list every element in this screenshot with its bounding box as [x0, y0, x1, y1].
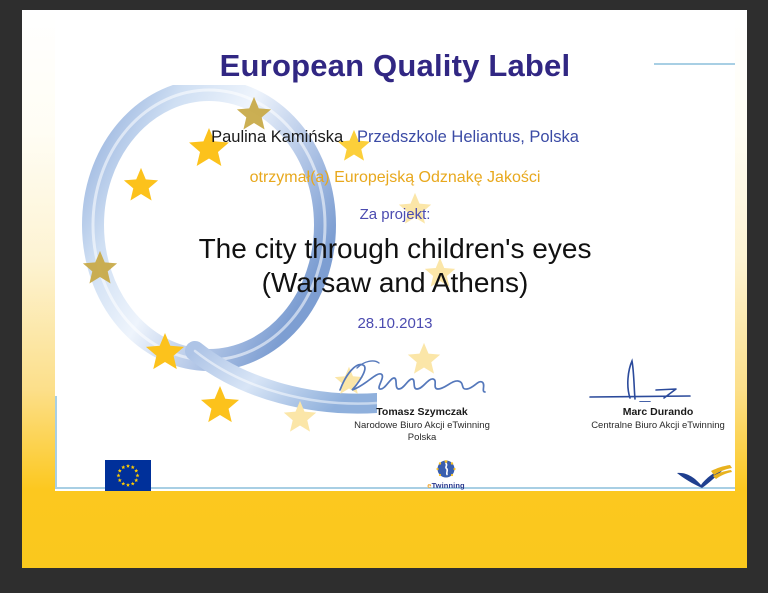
award-date: 28.10.2013: [55, 315, 735, 332]
certificate-paper: European Quality Label Paulina Kamińska …: [55, 10, 735, 491]
project-title-line-2: (Warsaw and Athens): [55, 266, 735, 300]
project-title-line-1: The city through children's eyes: [55, 232, 735, 266]
recipient-line: Paulina Kamińska Przedszkole Heliantus, …: [55, 128, 735, 147]
project-title: The city through children's eyes (Warsaw…: [55, 232, 735, 300]
certificate: European Quality Label Paulina Kamińska …: [22, 10, 747, 568]
signature-block-left: Tomasz Szymczak Narodowe Biuro Akcji eTw…: [307, 362, 537, 444]
etwinning-wordmark: eTwinning: [391, 481, 501, 490]
recipient-name: Paulina Kamińska: [211, 128, 343, 146]
signature-org-left-line1: Narodowe Biuro Akcji eTwinning: [307, 420, 537, 432]
etwinning-logo: eTwinning: [391, 458, 501, 490]
signature-org-right-line1: Centralne Biuro Akcji eTwinning: [543, 420, 735, 432]
signature-mark-tomasz-szymczak: [307, 362, 537, 406]
decorative-star: [145, 332, 185, 377]
for-project-label: Za projekt:: [55, 206, 735, 223]
footer-rule-vertical: [55, 396, 57, 489]
signature-block-right: Marc Durando Centralne Biuro Akcji eTwin…: [543, 362, 735, 432]
european-union-flag-logo: [105, 460, 151, 491]
etwinning-wordmark-text: Twinning: [432, 481, 465, 490]
signature-name-right: Marc Durando: [543, 406, 735, 420]
decorative-star: [200, 385, 240, 430]
signature-name-left: Tomasz Szymczak: [307, 406, 537, 420]
european-schoolnet-logo: [675, 462, 733, 491]
signature-mark-marc-durando: [543, 362, 735, 406]
page-title: European Quality Label: [55, 48, 735, 84]
award-statement: otrzymał(a) Europejską Odznakę Jakości: [55, 169, 735, 187]
recipient-school: Przedszkole Heliantus, Polska: [357, 128, 579, 146]
signature-org-left-line2: Polska: [307, 432, 537, 444]
